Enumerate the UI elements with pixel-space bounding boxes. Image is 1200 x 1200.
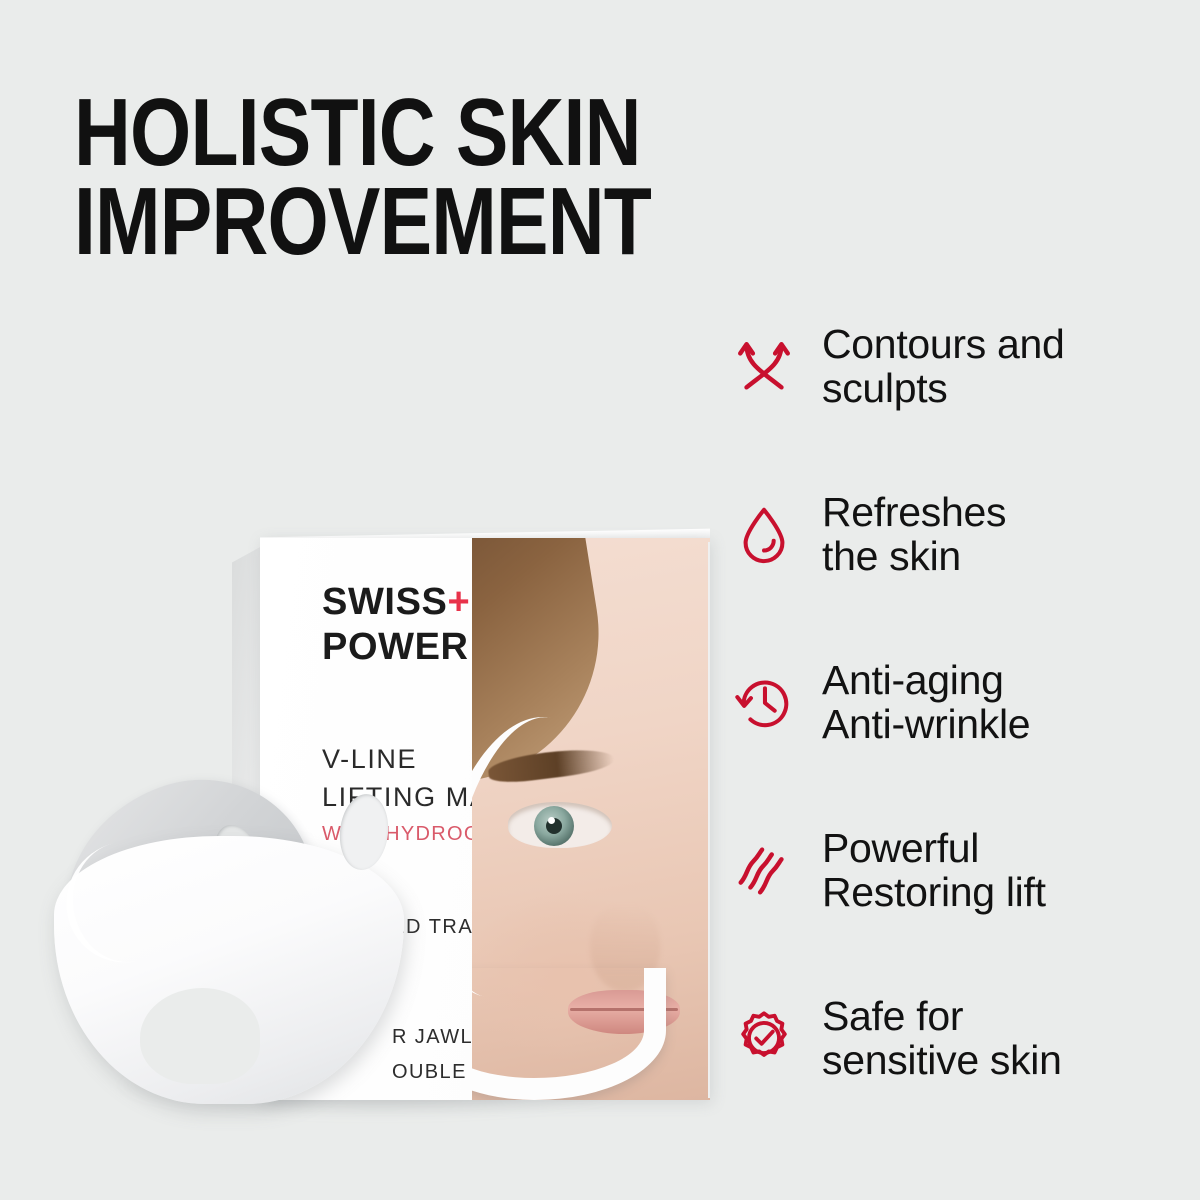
feature-item-contours: Contours and sculpts (728, 282, 1158, 450)
product-scene: SWISS+ POWER V-LINE LIFTING MASK WITH HY… (0, 480, 720, 1180)
check-seal-badge-icon (728, 1002, 800, 1074)
feature-label-safe-sensitive: Safe for sensitive skin (822, 994, 1062, 1083)
headline-line-2: IMPROVEMENT (74, 177, 599, 266)
swiss-cross-plus-icon: + (447, 581, 470, 623)
brand-swiss-text: SWISS (322, 581, 447, 623)
feature-item-refreshes: Refreshes the skin (728, 450, 1158, 618)
feature-item-restoring-lift: Powerful Restoring lift (728, 786, 1158, 954)
feature-label-anti-aging: Anti-aging Anti-wrinkle (822, 658, 1030, 747)
clock-reverse-icon (728, 666, 800, 738)
brand-logo: SWISS+ POWER (322, 580, 470, 670)
vline-mask-product (48, 780, 468, 1110)
vline-mask-chin-notch (140, 988, 260, 1084)
feature-list: Contours and sculpts Refreshes the skin … (728, 282, 1158, 1122)
feature-item-anti-aging: Anti-aging Anti-wrinkle (728, 618, 1158, 786)
wavy-lines-icon (728, 834, 800, 906)
brand-name-line-2: POWER (322, 625, 470, 670)
feature-item-safe-sensitive: Safe for sensitive skin (728, 954, 1158, 1122)
model-photo (472, 538, 710, 1100)
page-title: HOLISTIC SKIN IMPROVEMENT (74, 88, 599, 267)
brand-name-line-1: SWISS+ (322, 580, 470, 625)
feature-label-restoring-lift: Powerful Restoring lift (822, 826, 1046, 915)
feature-label-contours: Contours and sculpts (822, 322, 1065, 411)
feature-label-refreshes: Refreshes the skin (822, 490, 1006, 579)
box-right-edge (708, 542, 710, 1098)
crossed-lifting-arrows-icon (728, 330, 800, 402)
water-droplet-icon (728, 498, 800, 570)
headline-line-1: HOLISTIC SKIN (74, 88, 599, 177)
